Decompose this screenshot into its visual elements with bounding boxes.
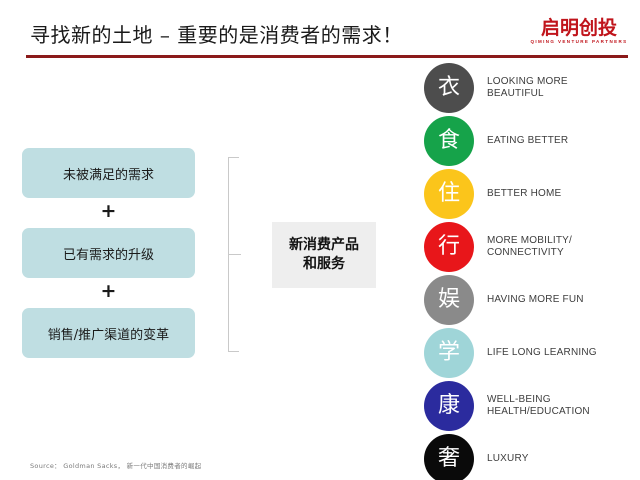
need-box-channel-reform: 销售/推广渠道的变革	[22, 308, 195, 358]
slide-canvas: 寻找新的土地 – 重要的是消费者的需求！ 启明创投 QIMING VENTURE…	[0, 0, 640, 480]
circle-label: BETTER HOME	[487, 188, 640, 200]
list-item-having-more-fun: 娱 HAVING MORE FUN	[424, 275, 640, 325]
bracket-connector-icon	[219, 157, 239, 352]
outcome-box: 新消费产品 和服务	[272, 222, 376, 288]
circle-label: LOOKING MORE BEAUTIFUL	[487, 76, 640, 100]
list-item-better-home: 住 BETTER HOME	[424, 169, 640, 219]
logo-chinese-text: 启明创投	[530, 18, 628, 38]
list-item-eating-better: 食 EATING BETTER	[424, 116, 640, 166]
plus-operator-2: +	[22, 283, 195, 299]
list-item-luxury: 奢 LUXURY	[424, 434, 640, 480]
list-item-life-long-learning: 学 LIFE LONG LEARNING	[424, 328, 640, 378]
circle-badge-kang: 康	[424, 381, 474, 431]
circle-label: EATING BETTER	[487, 135, 640, 147]
circle-badge-yi: 衣	[424, 63, 474, 113]
need-box-label: 未被满足的需求	[63, 164, 154, 183]
circle-badge-xing: 行	[424, 222, 474, 272]
circle-label: HAVING MORE FUN	[487, 294, 640, 306]
consumer-need-list: 衣 LOOKING MORE BEAUTIFUL 食 EATING BETTER…	[424, 63, 640, 463]
need-box-unmet-demand: 未被满足的需求	[22, 148, 195, 198]
logo-english-text: QIMING VENTURE PARTNERS	[530, 38, 628, 45]
circle-badge-xue: 学	[424, 328, 474, 378]
outcome-box-label: 新消费产品 和服务	[289, 236, 359, 274]
circle-label: WELL-BEING HEALTH/EDUCATION	[487, 394, 640, 418]
list-item-looking-more-beautiful: 衣 LOOKING MORE BEAUTIFUL	[424, 63, 640, 113]
circle-label: MORE MOBILITY/ CONNECTIVITY	[487, 235, 640, 259]
circle-badge-yu: 娱	[424, 275, 474, 325]
need-box-label: 销售/推广渠道的变革	[48, 324, 169, 343]
source-note: Source： Goldman Sacks， 新一代中国消费者的崛起	[30, 460, 201, 470]
page-title: 寻找新的土地 – 重要的是消费者的需求！	[30, 19, 403, 48]
company-logo: 启明创投 QIMING VENTURE PARTNERS	[530, 18, 628, 50]
need-box-upgrade-demand: 已有需求的升级	[22, 228, 195, 278]
circle-label: LIFE LONG LEARNING	[487, 347, 640, 359]
circle-label: LUXURY	[487, 453, 640, 465]
bracket-top-tick	[228, 157, 239, 158]
header-divider	[26, 55, 628, 58]
need-box-label: 已有需求的升级	[63, 244, 154, 263]
list-item-more-mobility: 行 MORE MOBILITY/ CONNECTIVITY	[424, 222, 640, 272]
list-item-well-being: 康 WELL-BEING HEALTH/EDUCATION	[424, 381, 640, 431]
circle-badge-shi: 食	[424, 116, 474, 166]
circle-badge-she: 奢	[424, 434, 474, 480]
bracket-bottom-tick	[228, 351, 239, 352]
plus-operator-1: +	[22, 203, 195, 219]
bracket-middle-tick	[228, 254, 241, 255]
circle-badge-zhu: 住	[424, 169, 474, 219]
